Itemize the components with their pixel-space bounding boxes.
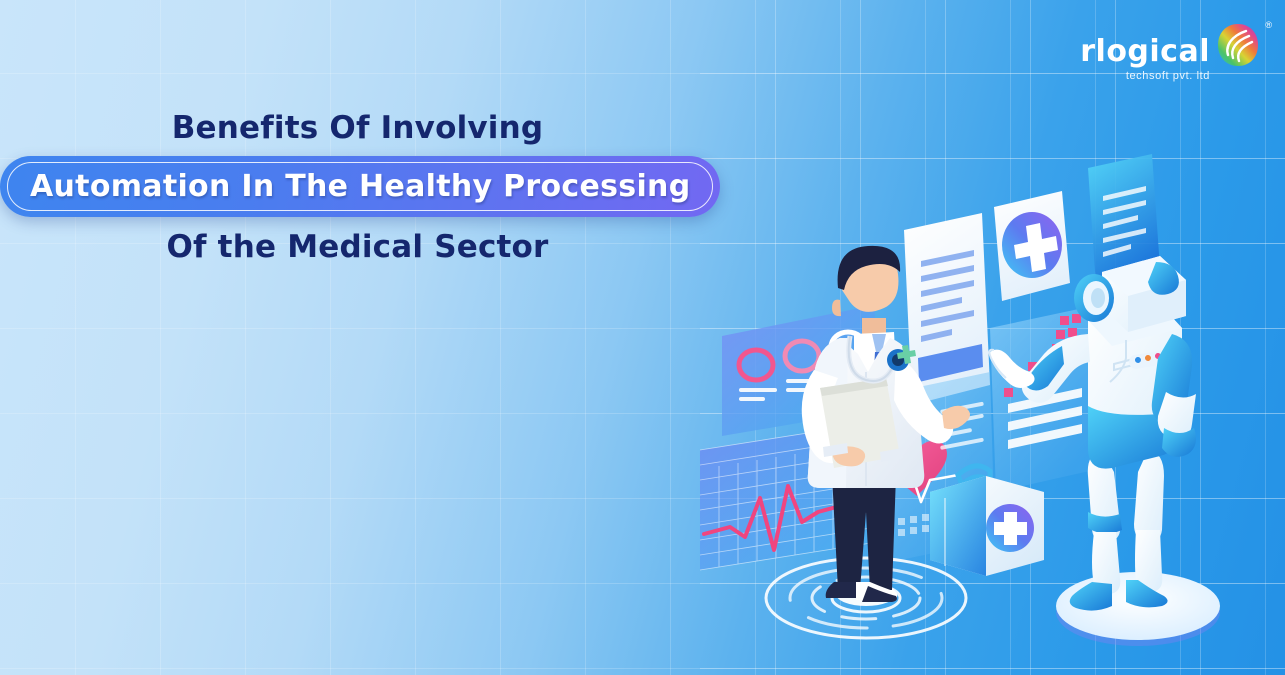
brand-name: rlogical <box>1080 37 1210 67</box>
brand-logo[interactable]: rlogical techsoft pvt. ltd <box>1080 22 1260 82</box>
headline-line-3: Of the Medical Sector <box>0 229 715 265</box>
medical-automation-illustration <box>690 120 1270 675</box>
headline-highlight-wrap: Automation In The Healthy Processing <box>0 156 715 217</box>
rainbow-leaf-logo-icon: ® <box>1216 22 1260 68</box>
medical-cross-card <box>994 191 1070 301</box>
headline-line-1: Benefits Of Involving <box>0 110 715 146</box>
banner-stage: rlogical techsoft pvt. ltd <box>0 0 1285 675</box>
headline-highlight-text: Automation In The Healthy Processing <box>30 169 690 204</box>
headline-block: Benefits Of Involving Automation In The … <box>0 110 715 265</box>
brand-logo-text: rlogical techsoft pvt. ltd <box>1080 37 1210 82</box>
illustration-svg <box>690 120 1270 675</box>
brand-tagline: techsoft pvt. ltd <box>1126 71 1210 82</box>
registered-mark: ® <box>1265 20 1272 30</box>
headline-highlight-pill: Automation In The Healthy Processing <box>0 156 720 217</box>
